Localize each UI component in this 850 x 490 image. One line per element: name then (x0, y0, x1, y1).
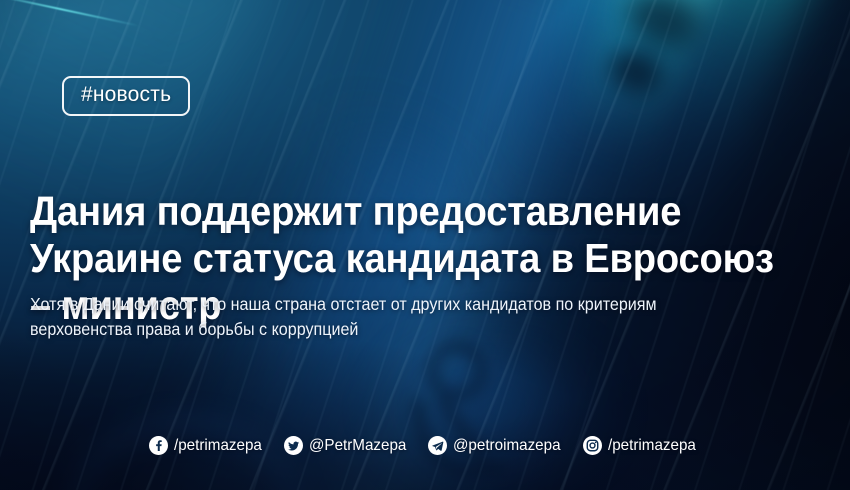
telegram-icon (428, 436, 447, 455)
twitter-icon (284, 436, 303, 455)
social-links-bar: /petrimazepa @PetrMazepa @petroimazepa (0, 436, 850, 455)
social-link-twitter[interactable]: @PetrMazepa (284, 436, 412, 455)
instagram-icon (583, 436, 602, 455)
social-handle: @petroimazepa (453, 437, 561, 455)
news-card: #новость Дания поддержит предоставление … (0, 0, 850, 490)
page-subtitle: Хотя в Дании считают, что наша страна от… (30, 292, 757, 342)
social-link-instagram[interactable]: /petrimazepa (583, 436, 701, 455)
social-link-facebook[interactable]: /petrimazepa (149, 436, 267, 455)
social-handle: @PetrMazepa (309, 437, 406, 455)
social-handle: /petrimazepa (608, 437, 696, 455)
facebook-icon (149, 436, 168, 455)
card-content: #новость Дания поддержит предоставление … (0, 0, 850, 490)
category-badge[interactable]: #новость (62, 76, 190, 116)
social-link-telegram[interactable]: @petroimazepa (428, 436, 566, 455)
social-handle: /petrimazepa (174, 437, 262, 455)
